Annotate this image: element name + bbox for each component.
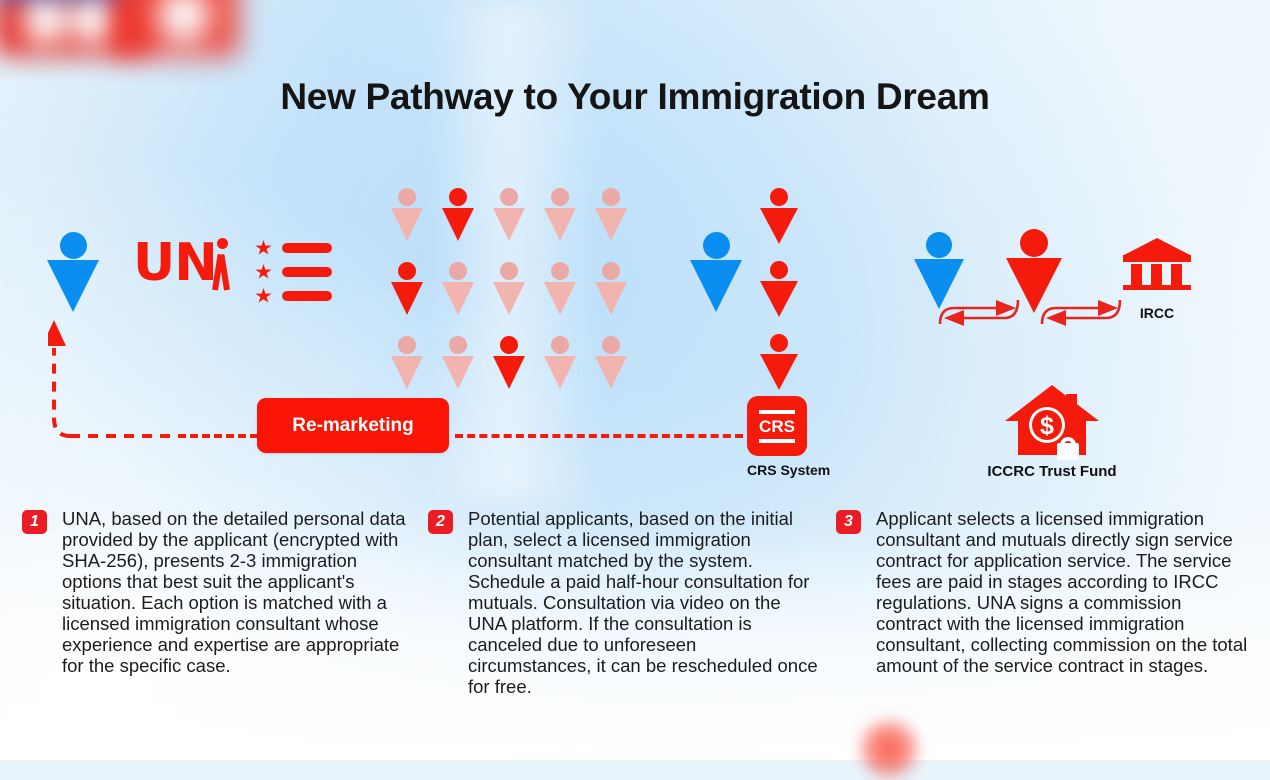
star-icon	[255, 288, 272, 304]
applicant-person-icon	[47, 232, 99, 312]
ircc-building-icon	[1122, 238, 1192, 296]
consultant-grid-row	[381, 336, 636, 389]
step-description: Potential applicants, based on the initi…	[468, 508, 818, 697]
step-block-2: 2 Potential applicants, based on the ini…	[428, 508, 818, 697]
crs-system-block: CRS CRS System	[747, 396, 830, 478]
consultant-icon[interactable]	[483, 262, 534, 315]
consultant-icon-matched[interactable]	[381, 262, 432, 315]
consultant-icon[interactable]	[432, 336, 483, 389]
applicant-person-icon-stage2	[690, 232, 742, 312]
blurred-logo-decoration-secondary-icon	[118, 0, 238, 56]
step-number-badge: 2	[428, 510, 453, 534]
step-block-3: 3 Applicant selects a licensed immigrati…	[836, 508, 1250, 676]
remarketing-feedback-arrow-icon	[48, 318, 248, 448]
crs-system-label: CRS System	[747, 462, 830, 478]
consultant-grid-row	[381, 262, 636, 315]
matched-consultants-column	[760, 188, 798, 407]
una-logo-a-figure-icon	[209, 238, 235, 290]
page-title: New Pathway to Your Immigration Dream	[0, 76, 1270, 118]
consultant-icon[interactable]	[534, 336, 585, 389]
consultant-icon[interactable]	[483, 188, 534, 241]
matched-consultant-person-icon	[760, 261, 798, 317]
una-wordmark-text: UN	[133, 237, 217, 289]
crs-icon-text: CRS	[759, 418, 795, 435]
consultant-icon[interactable]	[432, 262, 483, 315]
trust-fund-label: ICCRC Trust Fund	[972, 463, 1132, 480]
svg-text:$: $	[1040, 412, 1054, 440]
ircc-block: IRCC	[1122, 238, 1192, 321]
consultant-icon[interactable]	[585, 188, 636, 241]
matched-consultant-person-icon	[760, 188, 798, 244]
dashed-connector-crs	[455, 434, 743, 438]
trust-fund-block: $ ICCRC Trust Fund	[972, 383, 1132, 480]
matched-consultant-person-icon	[760, 334, 798, 390]
consultant-icon[interactable]	[381, 188, 432, 241]
bidirectional-arrow-applicant-consultant-icon	[938, 280, 1022, 330]
remarketing-button[interactable]: Re-marketing	[257, 398, 449, 453]
consultant-icon[interactable]	[381, 336, 432, 389]
step-block-1: 1 UNA, based on the detailed personal da…	[22, 508, 420, 676]
star-icon	[255, 264, 272, 280]
dashed-connector-left	[178, 434, 258, 438]
star-icon	[255, 240, 272, 256]
blurred-dot-decoration-icon	[858, 718, 920, 780]
consultant-icon[interactable]	[585, 336, 636, 389]
bidirectional-arrow-consultant-ircc-icon	[1040, 280, 1124, 330]
ircc-label: IRCC	[1122, 305, 1192, 321]
trust-fund-house-icon: $	[1002, 383, 1102, 461]
una-logo: UN	[133, 237, 217, 289]
consultant-pool-grid	[381, 188, 636, 389]
step-number-badge: 3	[836, 510, 861, 534]
consultant-icon[interactable]	[585, 262, 636, 315]
consultant-icon-matched[interactable]	[483, 336, 534, 389]
crs-icon[interactable]: CRS	[747, 396, 807, 456]
consultant-grid-row	[381, 188, 636, 241]
consultant-icon[interactable]	[534, 262, 585, 315]
options-list-icon	[255, 240, 332, 304]
consultant-icon-matched[interactable]	[432, 188, 483, 241]
consultant-icon[interactable]	[534, 188, 585, 241]
step-number-badge: 1	[22, 510, 47, 534]
step-description: UNA, based on the detailed personal data…	[62, 508, 420, 676]
step-description: Applicant selects a licensed immigration…	[876, 508, 1250, 676]
